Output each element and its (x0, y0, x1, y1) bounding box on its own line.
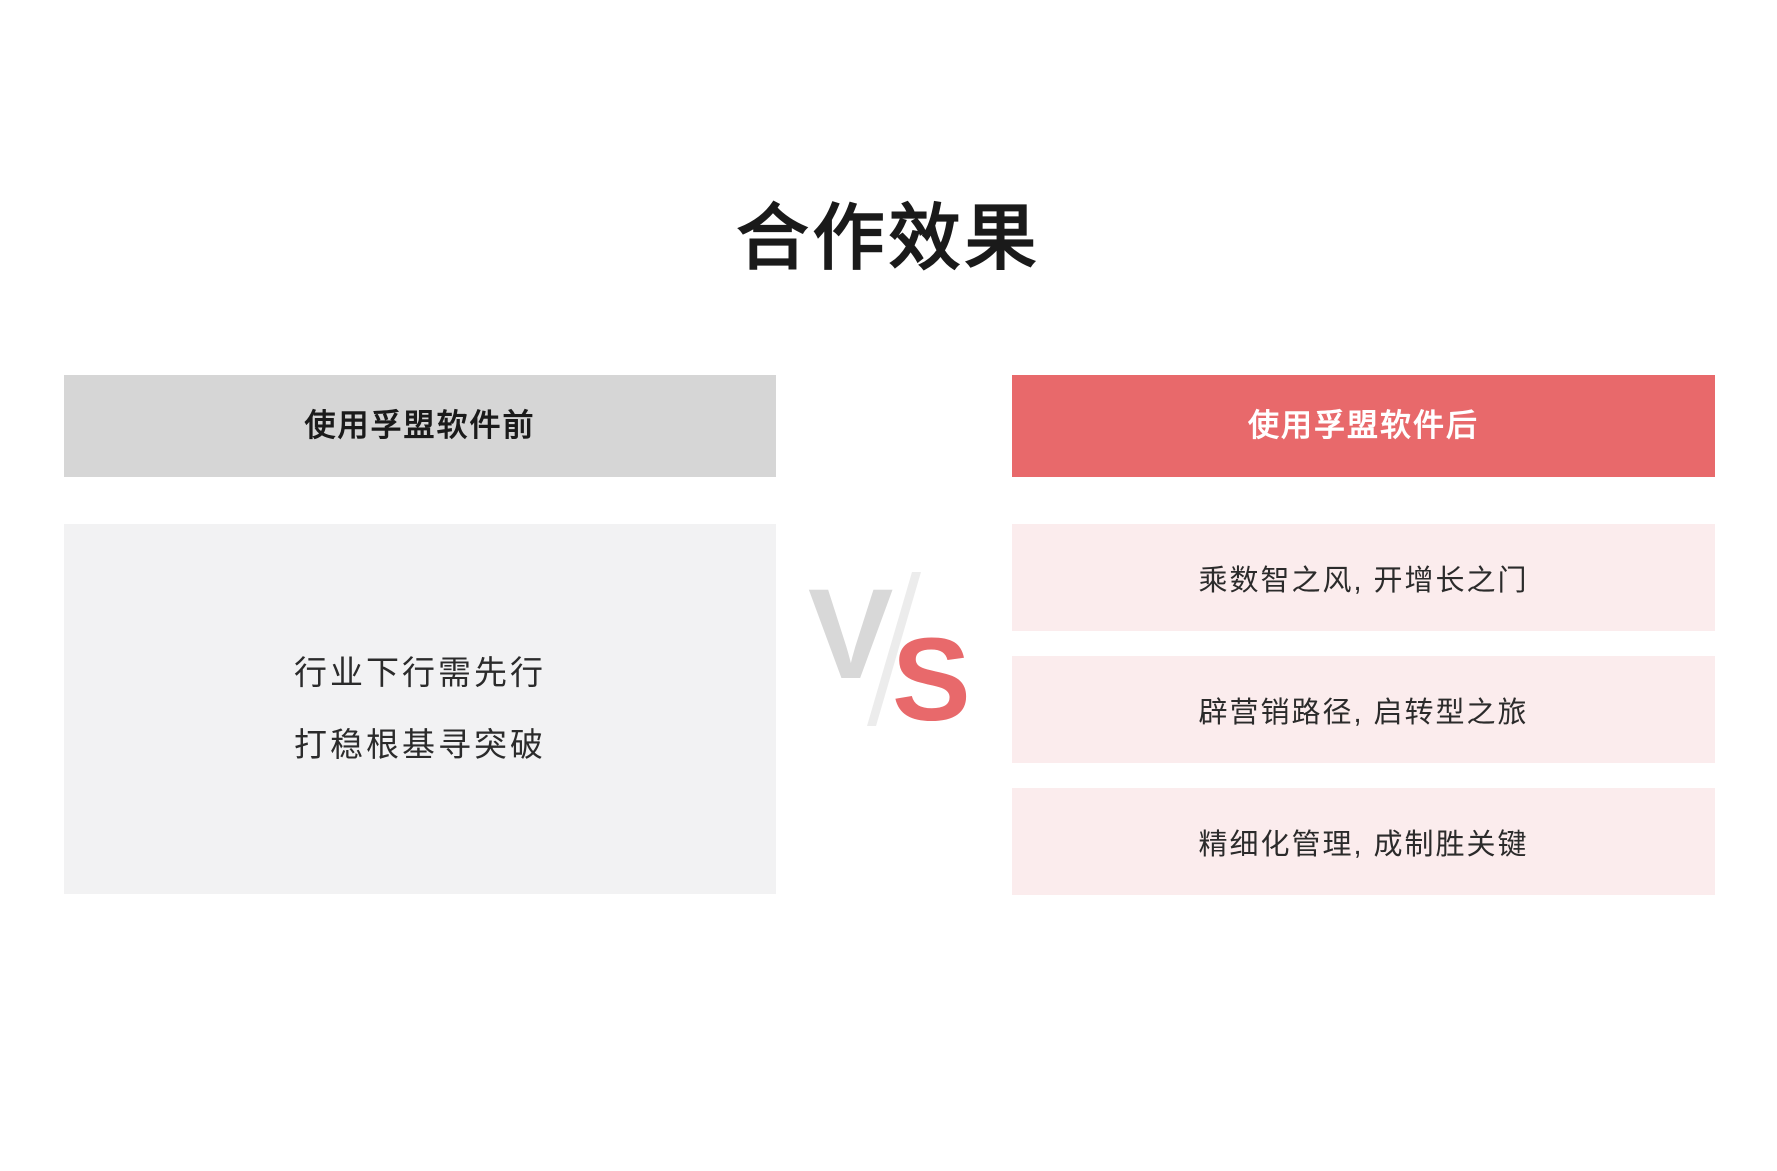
after-row: 精细化管理, 成制胜关键 (1012, 788, 1715, 895)
comparison-section: 使用孚盟软件前 行业下行需先行 打稳根基寻突破 V S 使用孚盟软件后 乘数智之… (0, 0, 1777, 1171)
after-row: 乘数智之风, 开增长之门 (1012, 524, 1715, 631)
slide-canvas: 合作效果 使用孚盟软件前 行业下行需先行 打稳根基寻突破 V S 使用孚盟软件后… (0, 0, 1777, 1171)
after-row-text: 乘数智之风, 开增长之门 (1198, 557, 1528, 599)
after-row-text: 辟营销路径, 启转型之旅 (1198, 689, 1528, 731)
before-line: 行业下行需先行 (294, 637, 546, 709)
before-line: 打稳根基寻突破 (294, 709, 546, 781)
after-row-text: 精细化管理, 成制胜关键 (1198, 821, 1528, 863)
after-panel-body: 乘数智之风, 开增长之门 辟营销路径, 启转型之旅 精细化管理, 成制胜关键 (1012, 524, 1715, 894)
before-panel-header: 使用孚盟软件前 (64, 375, 776, 477)
after-panel-header: 使用孚盟软件后 (1012, 375, 1715, 477)
before-panel-body: 行业下行需先行 打稳根基寻突破 (64, 524, 776, 894)
after-row: 辟营销路径, 启转型之旅 (1012, 656, 1715, 763)
versus-s-letter: S (892, 614, 971, 730)
versus-badge: V S (800, 560, 980, 730)
